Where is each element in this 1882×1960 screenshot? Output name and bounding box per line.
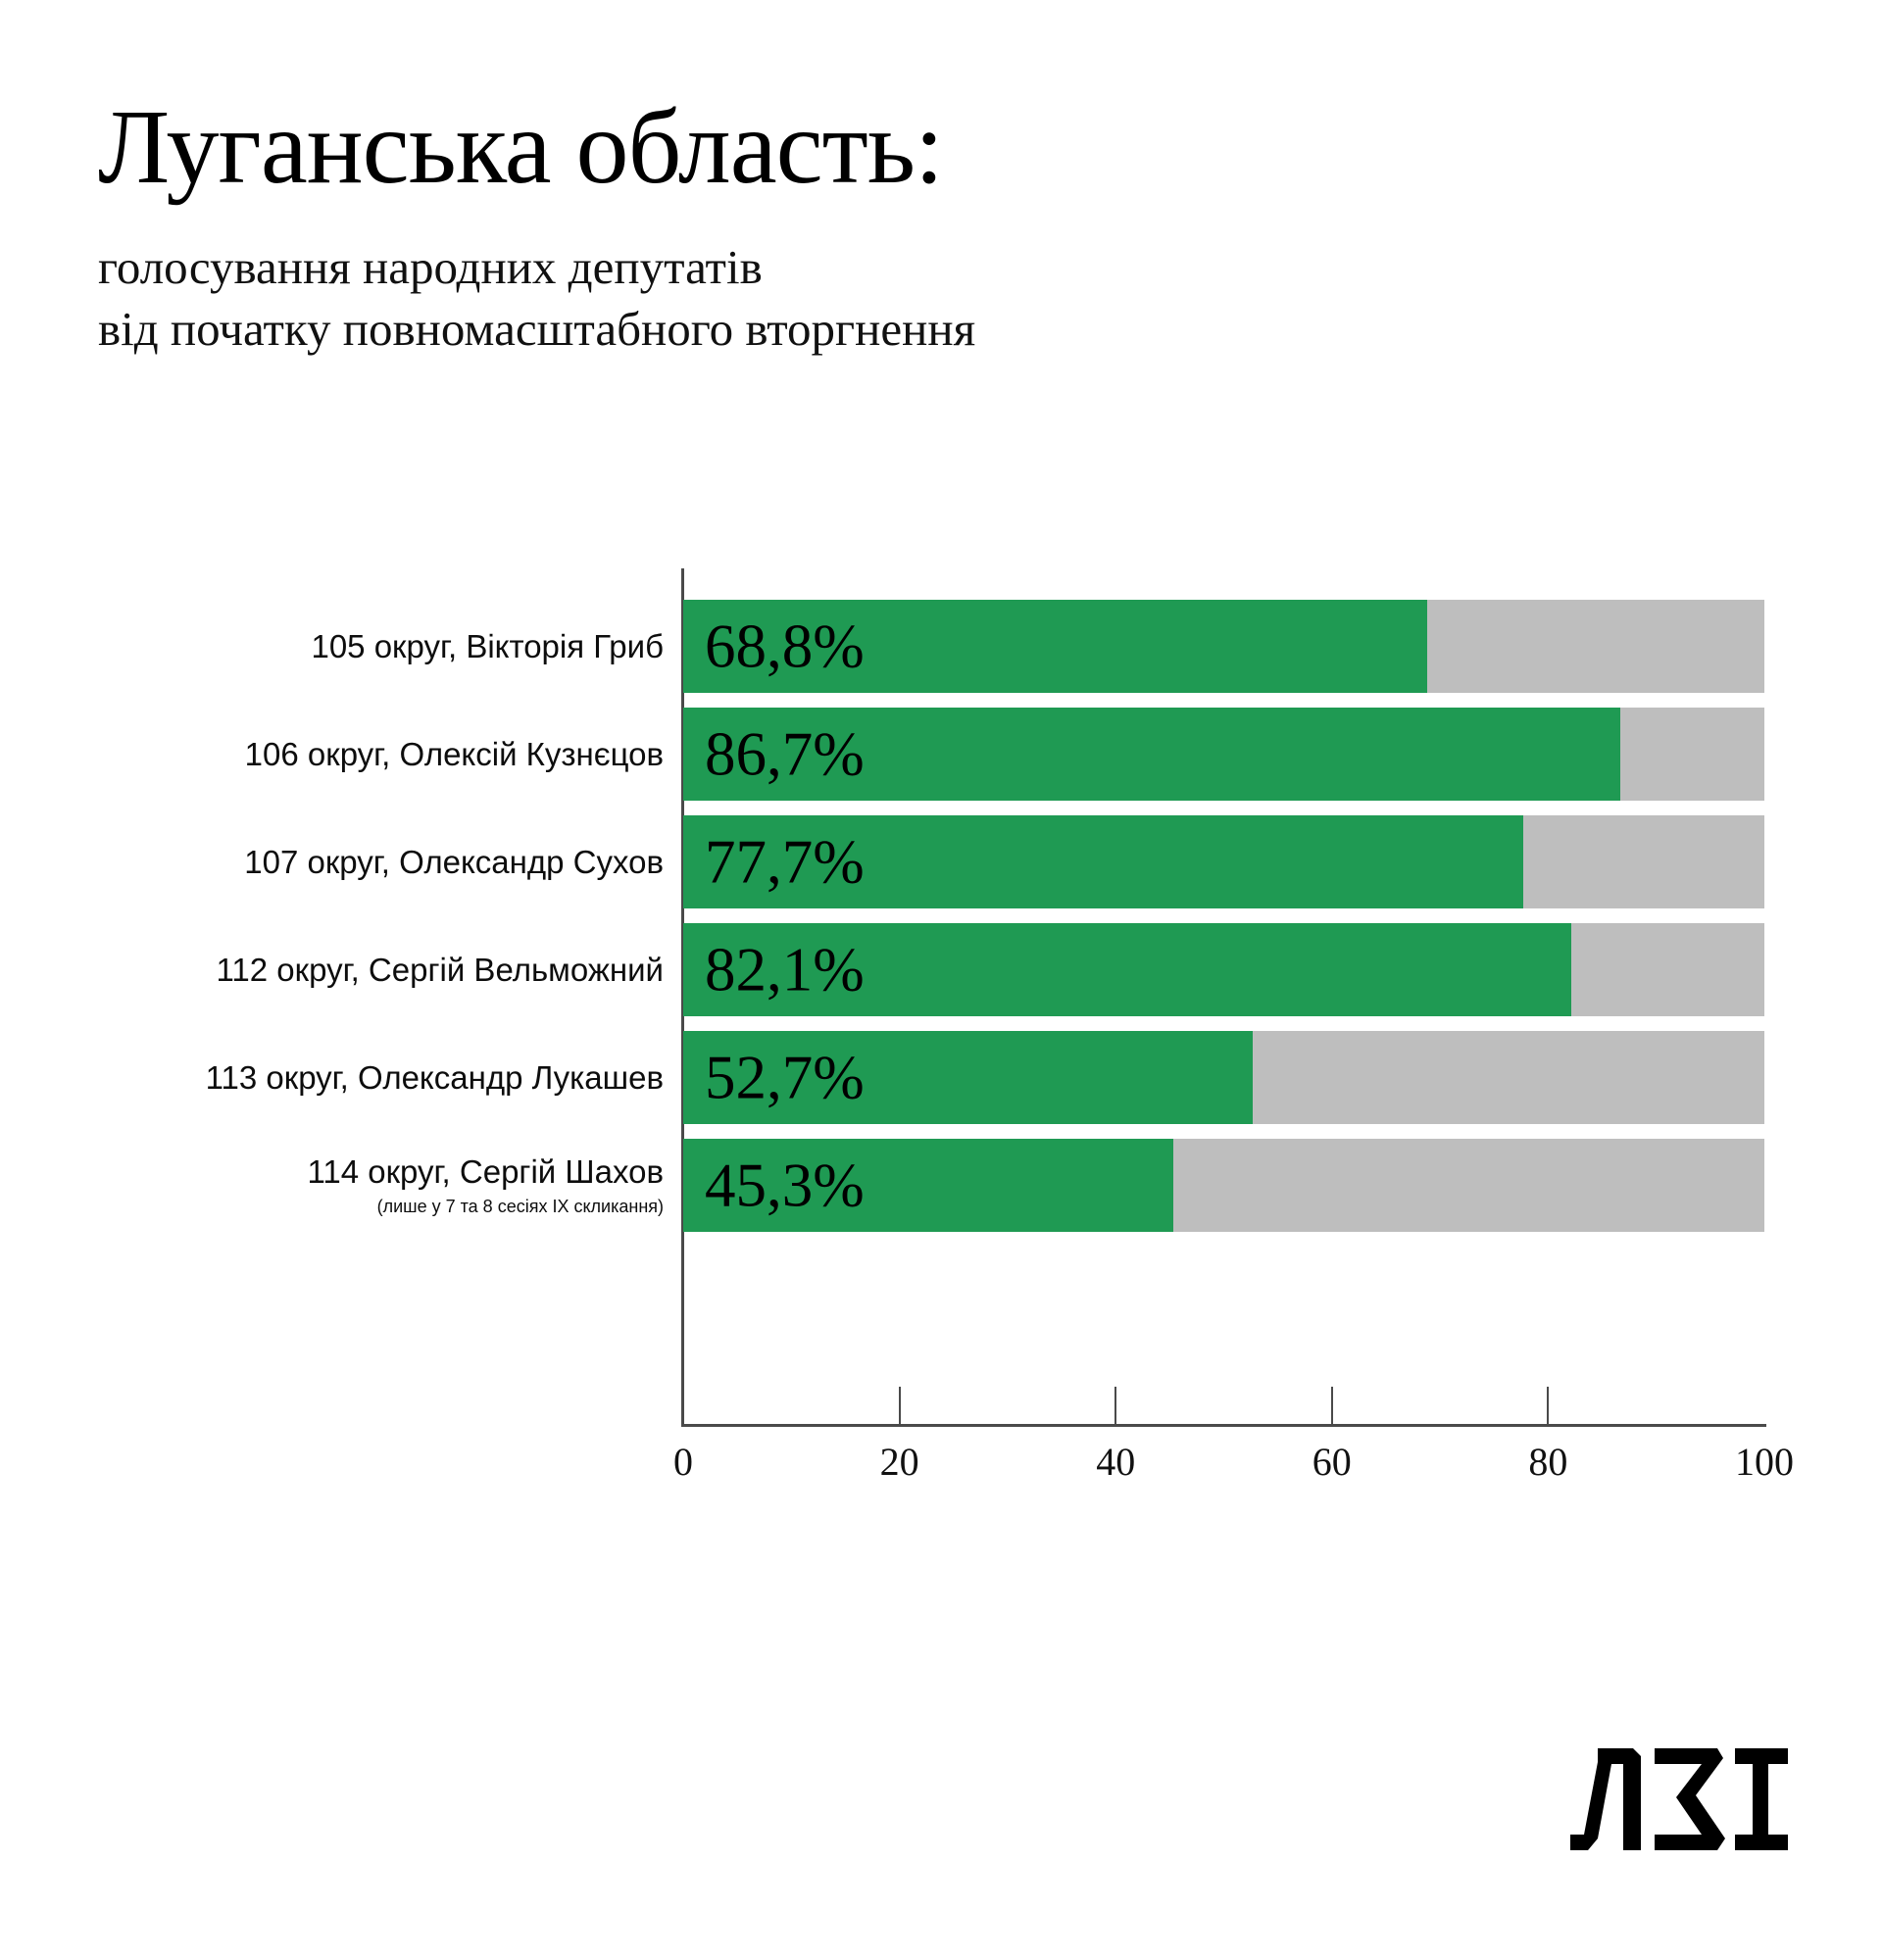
bar-track: 68,8%	[683, 600, 1764, 693]
x-axis-tick-label: 0	[673, 1439, 693, 1485]
bar-value-label: 52,7%	[705, 1047, 865, 1108]
bar-row: 114 округ, Сергій Шахов(лише у 7 та 8 се…	[0, 1139, 1882, 1232]
page-subtitle-line-2: від початку повномасштабного вторгнення	[98, 299, 1568, 361]
x-axis-line	[681, 1424, 1766, 1427]
bar-row-label-note: (лише у 7 та 8 сесіях IX скликання)	[377, 1197, 664, 1218]
bar-row: 113 округ, Олександр Лукашев52,7%	[0, 1031, 1882, 1124]
x-axis-tick	[1547, 1387, 1549, 1424]
x-axis-tick-label: 80	[1528, 1439, 1567, 1485]
bar-row-label: 107 округ, Олександр Сухов	[244, 815, 664, 908]
x-axis-tick-label: 60	[1312, 1439, 1352, 1485]
bar-track: 86,7%	[683, 708, 1764, 801]
bar-row-label-name: 107 округ, Олександр Сухов	[244, 844, 664, 881]
bar-value-label: 68,8%	[705, 615, 865, 677]
bar-row-label-name: 113 округ, Олександр Лукашев	[206, 1059, 664, 1097]
bar-row: 106 округ, Олексій Кузнєцов86,7%	[0, 708, 1882, 801]
x-axis-tick	[899, 1387, 901, 1424]
bar-track: 77,7%	[683, 815, 1764, 908]
bar-row-label: 113 округ, Олександр Лукашев	[206, 1031, 664, 1124]
page-subtitle: голосування народних депутатів від почат…	[98, 237, 1568, 360]
bar-value-label: 45,3%	[705, 1154, 865, 1216]
x-axis-tick-label: 20	[880, 1439, 919, 1485]
bar-row-label: 105 округ, Вікторія Гриб	[311, 600, 664, 693]
bar-row-label-name: 114 округ, Сергій Шахов	[307, 1153, 664, 1191]
bar-row-label: 112 округ, Сергій Вельможний	[217, 923, 664, 1016]
bar-chart: 105 округ, Вікторія Гриб68,8%106 округ, …	[0, 559, 1882, 1490]
x-axis-tick-label: 40	[1096, 1439, 1135, 1485]
bar-row: 107 округ, Олександр Сухов77,7%	[0, 815, 1882, 908]
page-title: Луганська область:	[98, 94, 1568, 202]
lzi-logo-icon	[1562, 1744, 1788, 1850]
x-axis-tick	[1331, 1387, 1333, 1424]
x-axis-tick	[1114, 1387, 1116, 1424]
bar-track: 45,3%	[683, 1139, 1764, 1232]
bar-row-label-name: 112 округ, Сергій Вельможний	[217, 952, 664, 989]
lzi-logo[interactable]	[1562, 1744, 1788, 1850]
page-subtitle-line-1: голосування народних депутатів	[98, 237, 1568, 299]
bar-row-label-name: 105 округ, Вікторія Гриб	[311, 628, 664, 665]
header: Луганська область: голосування народних …	[98, 94, 1568, 361]
bar-value-label: 82,1%	[705, 939, 865, 1001]
bar-row-label-name: 106 округ, Олексій Кузнєцов	[245, 736, 664, 773]
bar-row: 105 округ, Вікторія Гриб68,8%	[0, 600, 1882, 693]
bar-row-label: 106 округ, Олексій Кузнєцов	[245, 708, 664, 801]
infographic-page: Луганська область: голосування народних …	[0, 0, 1882, 1960]
bar-value-label: 86,7%	[705, 723, 865, 785]
bar-track: 52,7%	[683, 1031, 1764, 1124]
bar-row-label: 114 округ, Сергій Шахов(лише у 7 та 8 се…	[307, 1139, 664, 1232]
x-axis-tick-label: 100	[1735, 1439, 1794, 1485]
bar-row: 112 округ, Сергій Вельможний82,1%	[0, 923, 1882, 1016]
bar-track: 82,1%	[683, 923, 1764, 1016]
bar-value-label: 77,7%	[705, 831, 865, 893]
